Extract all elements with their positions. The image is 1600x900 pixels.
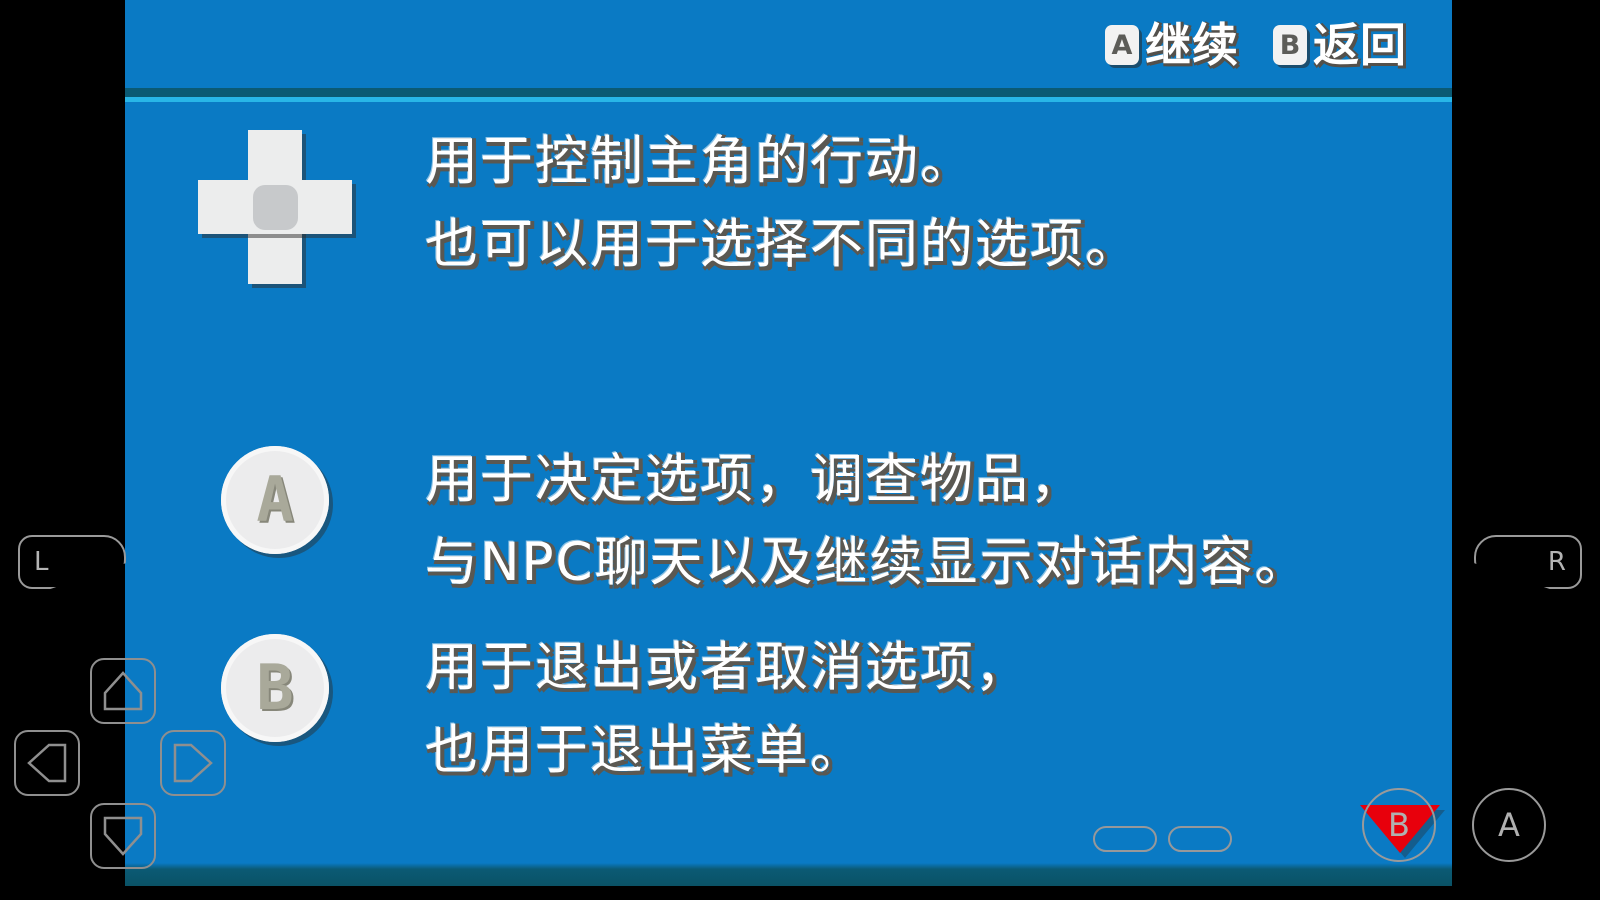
dpad-description: 用于控制主角的行动。 也可以用于选择不同的选项。: [425, 120, 1452, 286]
header-divider: [125, 88, 1452, 102]
b-button-overlay[interactable]: B: [1362, 788, 1436, 862]
b-line-1: 用于退出或者取消选项，: [425, 626, 1452, 709]
b-line-2: 也用于退出菜单。: [425, 709, 1452, 792]
arrow-right-icon: [171, 741, 215, 785]
dpad-line-2: 也可以用于选择不同的选项。: [425, 203, 1452, 286]
select-button[interactable]: [1093, 826, 1157, 852]
prompt-back-label: 返回: [1313, 22, 1407, 68]
l-shoulder-button[interactable]: L: [18, 535, 126, 589]
b-button-glyph-icon: B: [1273, 25, 1307, 65]
help-entry-b: B 用于退出或者取消选项， 也用于退出菜单。: [125, 604, 1452, 792]
game-screen: A 继续 B 返回: [125, 0, 1452, 886]
arrow-up-icon: [101, 669, 145, 713]
a-icon-cell: A: [125, 438, 425, 554]
dpad-down-button[interactable]: [90, 803, 156, 869]
dpad-center-hub: [253, 185, 298, 230]
dpad-line-1: 用于控制主角的行动。: [425, 120, 1452, 203]
header-prompt-row: A 继续 B 返回: [125, 0, 1452, 90]
prompt-back: B 返回: [1273, 22, 1407, 68]
b-button-icon-label: B: [256, 657, 293, 719]
a-button-overlay-label: A: [1498, 806, 1520, 844]
dpad-icon: [196, 128, 354, 286]
b-button-icon: B: [221, 634, 329, 742]
dpad-left-button[interactable]: [14, 730, 80, 796]
help-entries: 用于控制主角的行动。 也可以用于选择不同的选项。 A 用于决定选项，调查物品， …: [125, 102, 1452, 792]
a-button-icon: A: [221, 446, 329, 554]
dpad-right-button[interactable]: [160, 730, 226, 796]
help-entry-dpad: 用于控制主角的行动。 也可以用于选择不同的选项。: [125, 102, 1452, 286]
prompt-confirm: A 继续: [1105, 22, 1239, 68]
a-line-2: 与NPC聊天以及继续显示对话内容。: [425, 521, 1452, 604]
a-button-overlay[interactable]: A: [1472, 788, 1546, 862]
a-description: 用于决定选项，调查物品， 与NPC聊天以及继续显示对话内容。: [425, 438, 1452, 604]
dpad-icon-cell: [125, 120, 425, 286]
a-button-icon-label: A: [256, 469, 293, 531]
prompt-confirm-label: 继续: [1145, 22, 1239, 68]
b-icon-cell: B: [125, 626, 425, 742]
arrow-down-icon: [101, 814, 145, 858]
a-line-1: 用于决定选项，调查物品，: [425, 438, 1452, 521]
r-shoulder-button[interactable]: R: [1474, 535, 1582, 589]
start-button[interactable]: [1168, 826, 1232, 852]
b-description: 用于退出或者取消选项， 也用于退出菜单。: [425, 626, 1452, 792]
screen-bottom-band: [125, 858, 1452, 886]
arrow-left-icon: [25, 741, 69, 785]
a-button-glyph-icon: A: [1105, 25, 1139, 65]
dpad-up-button[interactable]: [90, 658, 156, 724]
help-entry-a: A 用于决定选项，调查物品， 与NPC聊天以及继续显示对话内容。: [125, 286, 1452, 604]
b-button-overlay-label: B: [1388, 806, 1410, 844]
l-shoulder-label: L: [34, 547, 49, 577]
r-shoulder-label: R: [1548, 547, 1566, 577]
emulator-root: A 继续 B 返回: [0, 0, 1600, 900]
divider-dark-line: [125, 88, 1452, 97]
